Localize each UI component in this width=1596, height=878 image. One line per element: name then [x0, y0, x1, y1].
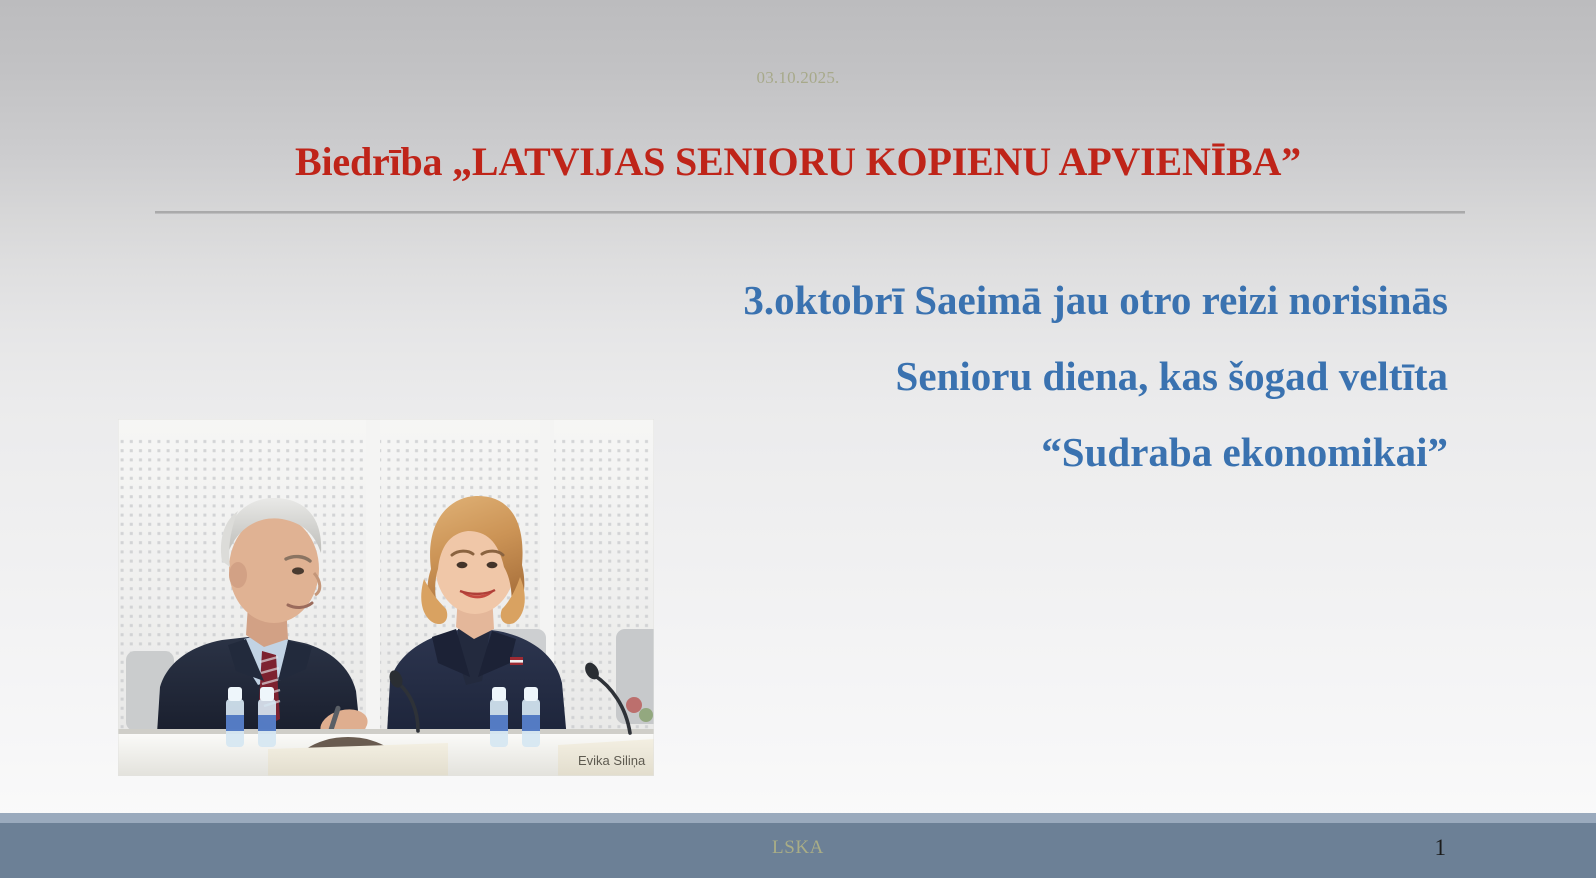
footer-bar: LSKA 1: [0, 823, 1596, 878]
presentation-slide: 03.10.2025. Biedrība „LATVIJAS SENIORU K…: [0, 0, 1596, 878]
slide-number: 1: [1435, 835, 1447, 861]
slide-date: 03.10.2025.: [0, 68, 1596, 88]
page-title: Biedrība „LATVIJAS SENIORU KOPIENU APVIE…: [0, 140, 1596, 183]
photo-illustration: Evika Siliņa: [118, 419, 654, 776]
title-block: Biedrība „LATVIJAS SENIORU KOPIENU APVIE…: [0, 140, 1596, 183]
footer-accent-strip: [0, 813, 1596, 823]
nameplate-right: Evika Siliņa: [558, 739, 654, 776]
body-line-2: Senioru diena, kas šogad veltīta: [448, 338, 1448, 414]
slide-photo: Evika Siliņa: [118, 419, 654, 776]
nameplate-right-text: Evika Siliņa: [578, 753, 646, 768]
title-divider: [155, 211, 1465, 214]
body-line-1: 3.oktobrī Saeimā jau otro reizi norisinā…: [448, 262, 1448, 338]
footer-organisation-label: LSKA: [0, 837, 1596, 859]
